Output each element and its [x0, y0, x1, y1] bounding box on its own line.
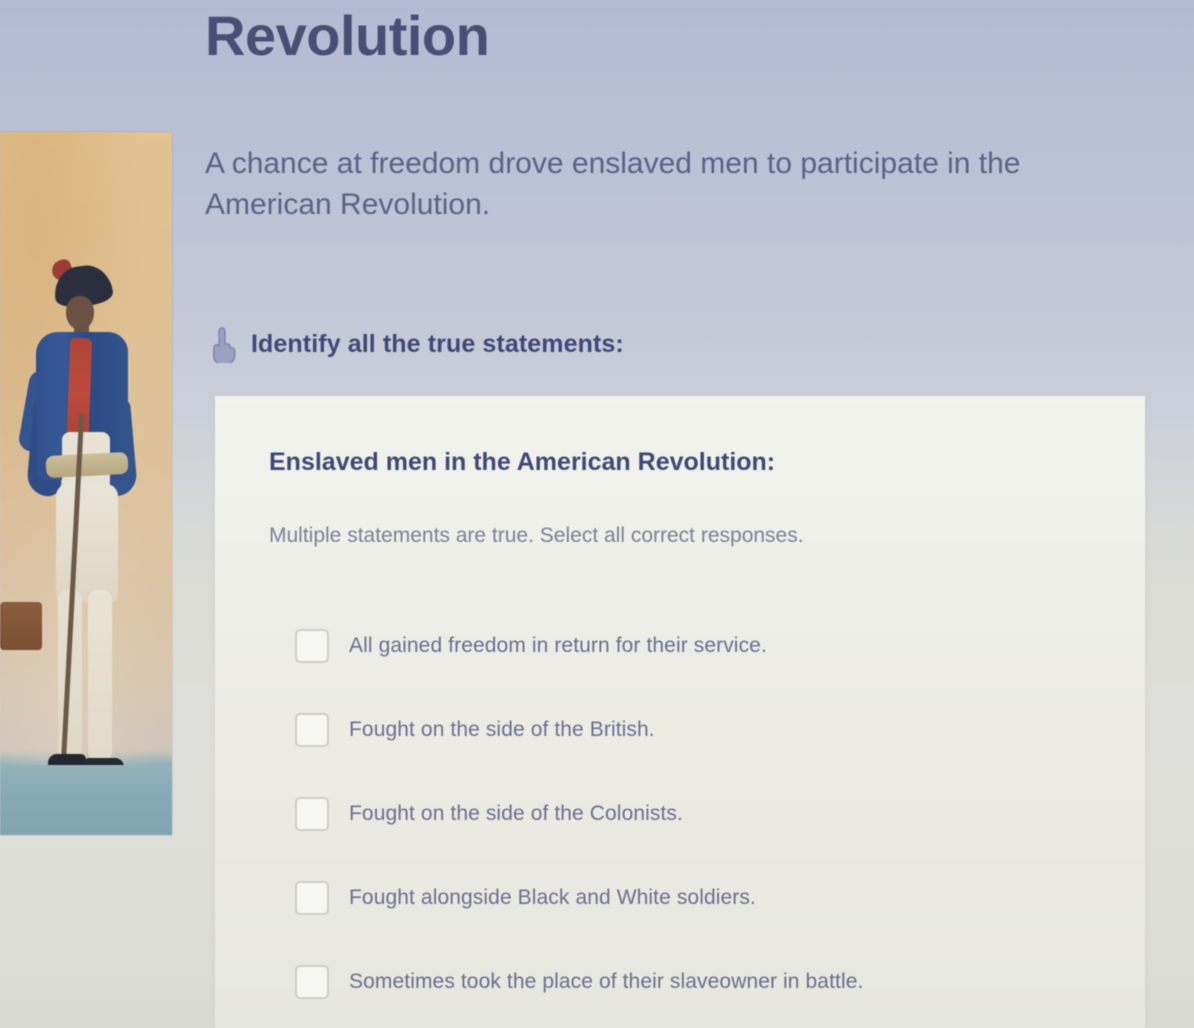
option-label: Sometimes took the place of their slaveo… — [349, 970, 863, 994]
soldier-sash — [45, 452, 128, 478]
prompt-row: Identify all the true statements: — [207, 325, 624, 363]
page-title: Revolution — [205, 8, 489, 64]
pointing-hand-icon — [207, 325, 241, 363]
revolutionary-soldier-illustration — [0, 132, 172, 835]
quiz-option[interactable]: Fought alongside Black and White soldier… — [295, 856, 1125, 940]
option-checkbox[interactable] — [295, 797, 329, 831]
illustration-ground — [0, 765, 172, 835]
quiz-options-list: All gained freedom in return for their s… — [295, 604, 1125, 1024]
lesson-intro-text: A chance at freedom drove enslaved men t… — [205, 143, 1085, 226]
option-label: Fought on the side of the Colonists. — [349, 802, 683, 826]
quiz-page: Revolution A chance at freedom drove ens… — [0, 0, 1194, 1028]
option-checkbox[interactable] — [295, 713, 329, 747]
soldier-head — [66, 296, 94, 330]
soldier-breeches — [56, 484, 118, 602]
option-checkbox[interactable] — [295, 629, 329, 663]
option-label: All gained freedom in return for their s… — [349, 634, 767, 658]
quiz-option[interactable]: Fought on the side of the British. — [295, 688, 1125, 772]
prompt-label: Identify all the true statements: — [251, 330, 624, 359]
quiz-option[interactable]: All gained freedom in return for their s… — [295, 604, 1125, 688]
option-checkbox[interactable] — [295, 881, 329, 915]
quiz-option[interactable]: Fought on the side of the Colonists. — [295, 772, 1125, 856]
option-checkbox[interactable] — [295, 965, 329, 999]
soldier-right-leg — [88, 590, 112, 762]
option-label: Fought alongside Black and White soldier… — [349, 886, 756, 910]
quiz-card: Enslaved men in the American Revolution:… — [215, 396, 1145, 1028]
option-label: Fought on the side of the British. — [349, 718, 655, 742]
content-column: Revolution A chance at freedom drove ens… — [205, 0, 1194, 1028]
quiz-option[interactable]: Sometimes took the place of their slaveo… — [295, 940, 1125, 1024]
quiz-heading: Enslaved men in the American Revolution: — [269, 448, 775, 477]
quiz-instructions: Multiple statements are true. Select all… — [269, 524, 804, 548]
soldier-satchel — [0, 602, 42, 650]
